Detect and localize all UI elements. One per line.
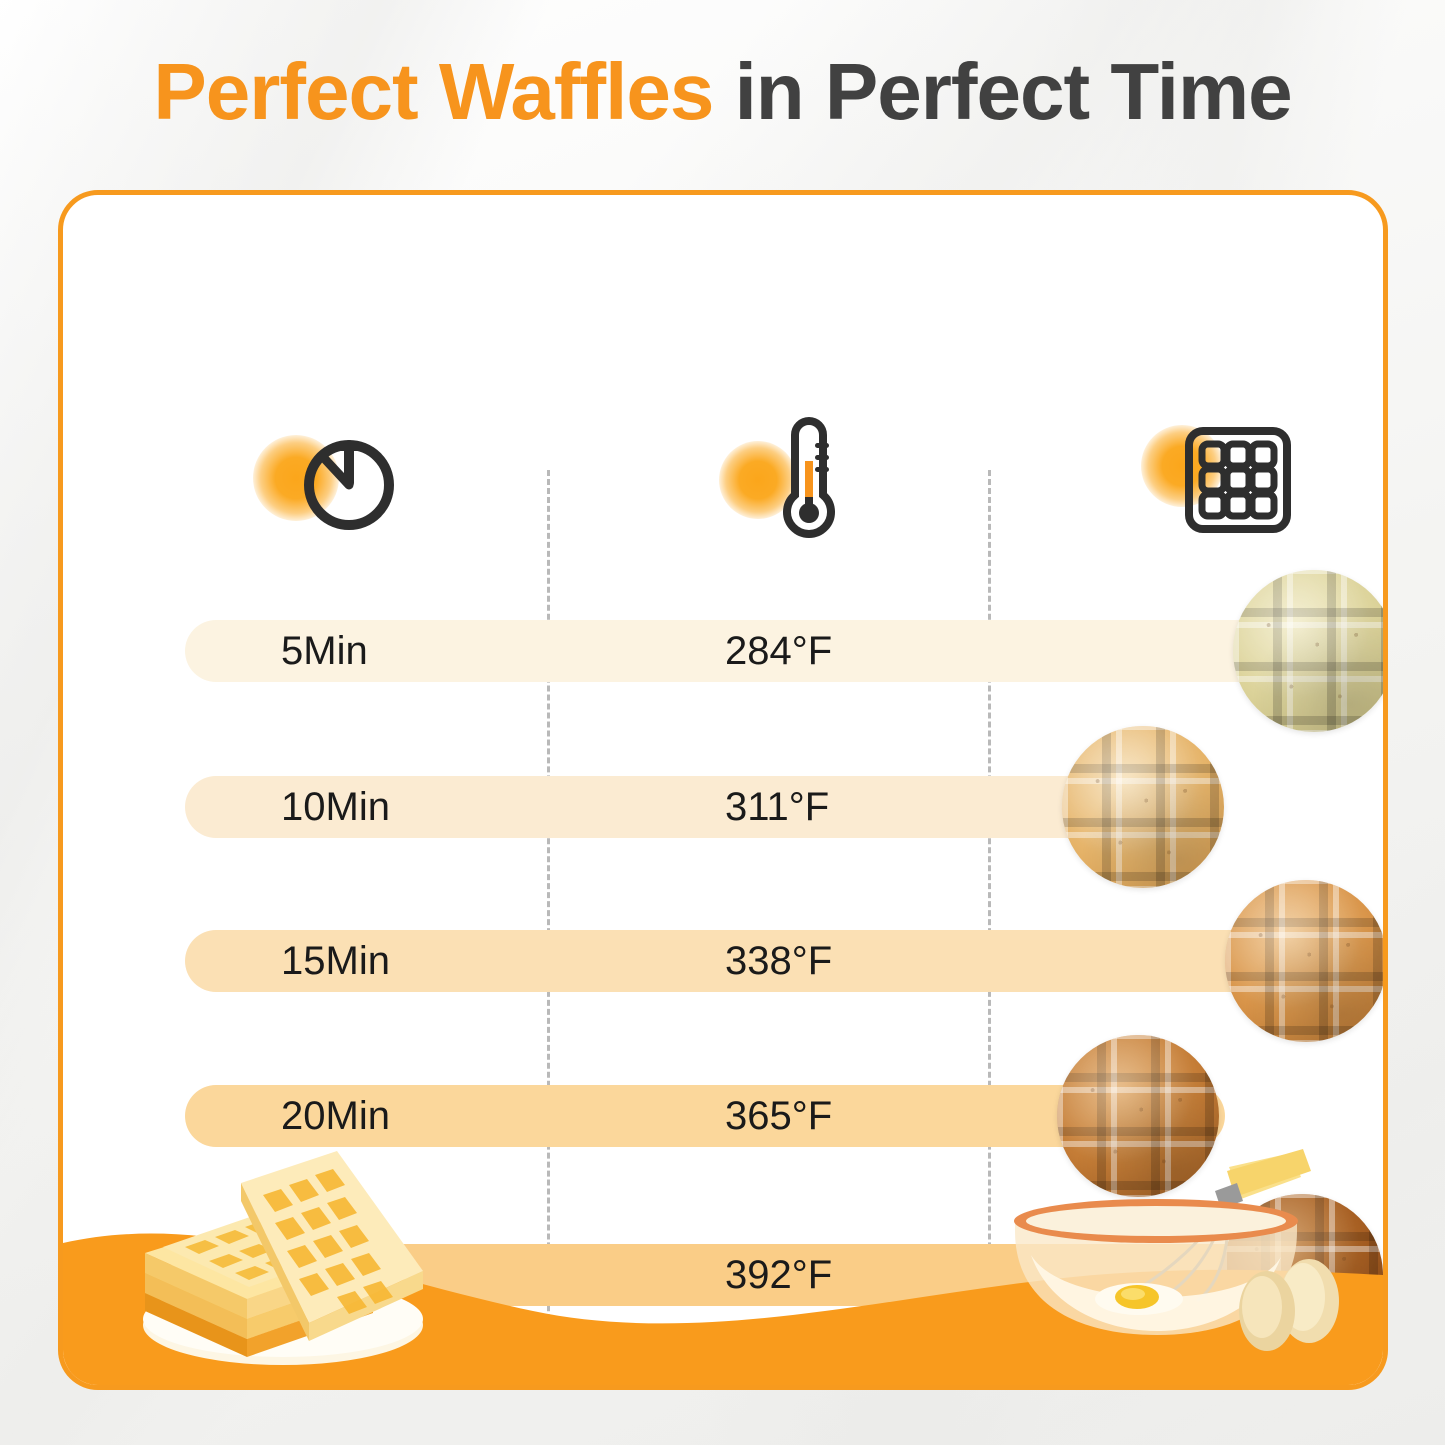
waffle-texture-layer <box>1225 880 1387 1042</box>
column-header-temperature <box>701 417 901 547</box>
waffle-swatch <box>1062 726 1224 888</box>
waffle-texture-layer <box>1233 570 1388 732</box>
waffle-stack-illustration <box>123 1143 453 1373</box>
title-accent: Perfect Waffles <box>153 47 713 136</box>
page-title: Perfect Waffles in Perfect Time <box>0 52 1445 132</box>
waffle-texture-layer <box>1062 726 1224 888</box>
table-row: 5Min284°F <box>185 620 1335 682</box>
table-row: 15Min338°F <box>185 930 1365 992</box>
cell-time: 5Min <box>281 620 368 682</box>
column-header-time <box>247 417 447 547</box>
cell-temperature: 284°F <box>725 620 832 682</box>
cell-temperature: 311°F <box>725 776 829 838</box>
cell-time: 10Min <box>281 776 390 838</box>
title-rest: in Perfect Time <box>713 47 1291 136</box>
timer-icon <box>295 421 403 533</box>
column-header-waffle-color <box>1131 417 1331 547</box>
mixing-bowl-illustration <box>991 1135 1361 1365</box>
waffle-grid-icon <box>1183 425 1293 535</box>
table-row: 10Min311°F <box>185 776 1220 838</box>
cell-temperature: 338°F <box>725 930 832 992</box>
info-card: 5Min284°F10Min311°F15Min338°F20Min365°F2… <box>58 190 1388 1390</box>
waffle-swatch <box>1233 570 1388 732</box>
cell-time: 15Min <box>281 930 390 992</box>
thermometer-icon <box>757 417 853 539</box>
waffle-swatch <box>1225 880 1387 1042</box>
